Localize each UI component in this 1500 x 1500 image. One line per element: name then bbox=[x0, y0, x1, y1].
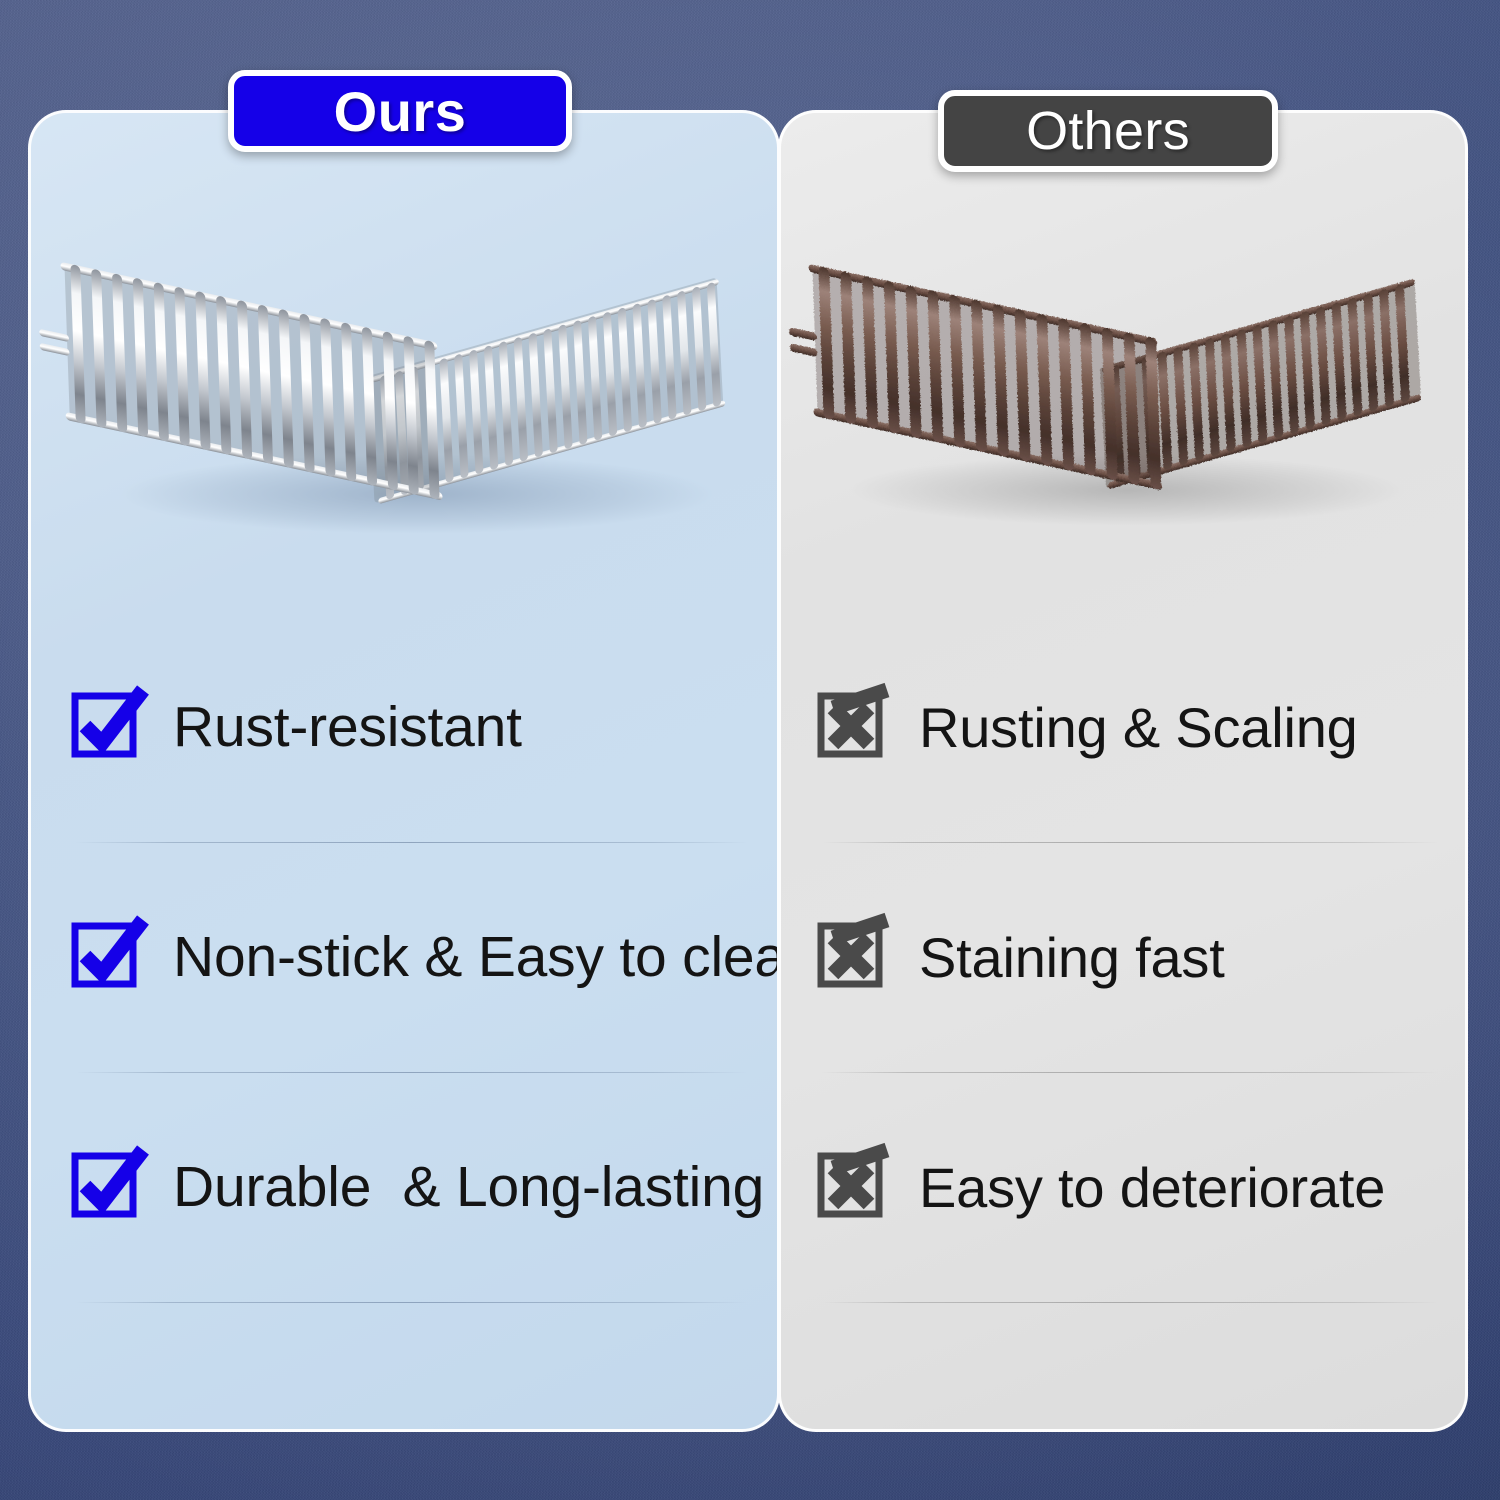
feature-label: Rusting & Scaling bbox=[919, 699, 1358, 758]
feature-row: Rusting & Scaling bbox=[781, 613, 1465, 843]
checkbox-checked-icon bbox=[71, 916, 147, 992]
ours-feature-list: Rust-resistant Non-stick & Easy to clean bbox=[31, 613, 777, 1429]
feature-label: Easy to deteriorate bbox=[919, 1159, 1385, 1218]
feature-row: Non-stick & Easy to clean bbox=[31, 843, 777, 1073]
feature-label: Staining fast bbox=[919, 929, 1225, 988]
feature-label: Non-stick & Easy to clean bbox=[173, 928, 780, 988]
ours-badge: Ours bbox=[228, 70, 572, 152]
comparison-panels: Rust-resistant Non-stick & Easy to clean bbox=[0, 0, 1500, 1500]
checkbox-crossed-icon bbox=[817, 1146, 893, 1222]
checkbox-checked-icon bbox=[71, 1146, 147, 1222]
others-product-image bbox=[781, 233, 1465, 553]
others-badge: Others bbox=[938, 90, 1278, 172]
feature-row: Easy to deteriorate bbox=[781, 1073, 1465, 1303]
others-panel: Rusting & Scaling Staining fast bbox=[778, 110, 1468, 1432]
ours-panel: Rust-resistant Non-stick & Easy to clean bbox=[28, 110, 780, 1432]
stainless-steel-grill-grates-illustration bbox=[31, 233, 777, 553]
ours-badge-label: Ours bbox=[334, 79, 467, 144]
checkbox-crossed-icon bbox=[817, 686, 893, 762]
rusted-grill-grates-illustration bbox=[781, 233, 1465, 553]
checkbox-crossed-icon bbox=[817, 916, 893, 992]
ours-product-image bbox=[31, 233, 777, 553]
feature-label: Rust-resistant bbox=[173, 698, 522, 758]
others-badge-label: Others bbox=[1026, 100, 1190, 162]
feature-row: Staining fast bbox=[781, 843, 1465, 1073]
checkbox-checked-icon bbox=[71, 686, 147, 762]
feature-label: Durable & Long-lasting bbox=[173, 1158, 764, 1218]
feature-row: Durable & Long-lasting bbox=[31, 1073, 777, 1303]
others-feature-list: Rusting & Scaling Staining fast bbox=[781, 613, 1465, 1429]
feature-row: Rust-resistant bbox=[31, 613, 777, 843]
